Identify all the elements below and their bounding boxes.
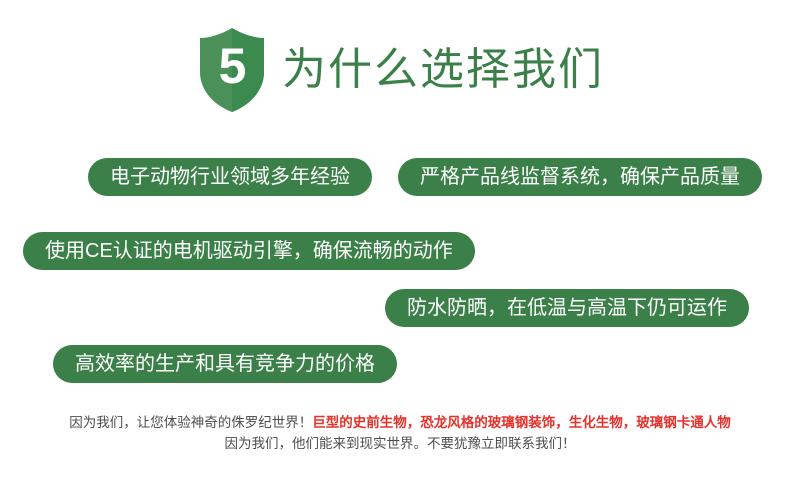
page-title: 为什么选择我们: [282, 48, 604, 92]
footer-text: 因为我们，让您体验神奇的侏罗纪世界！巨型的史前生物，恐龙风格的玻璃钢装饰，生化生…: [0, 412, 800, 454]
feature-pill-2[interactable]: 严格产品线监督系统，确保产品质量: [398, 158, 762, 196]
feature-pill-4[interactable]: 防水防晒，在低温与高温下仍可运作: [385, 289, 749, 327]
shield-badge: 5: [196, 26, 268, 114]
feature-pill-5[interactable]: 高效率的生产和具有竞争力的价格: [53, 345, 397, 383]
footer-line-2: 因为我们，他们能来到现实世界。不要犹豫立即联系我们！: [0, 433, 800, 454]
footer-line-1: 因为我们，让您体验神奇的侏罗纪世界！巨型的史前生物，恐龙风格的玻璃钢装饰，生化生…: [0, 412, 800, 433]
shield-badge-number: 5: [196, 26, 268, 114]
footer-line-1-highlight: 巨型的史前生物，恐龙风格的玻璃钢装饰，生化生物，玻璃钢卡通人物: [312, 415, 731, 430]
footer-line-1-plain: 因为我们，让您体验神奇的侏罗纪世界！: [69, 415, 312, 430]
page-header: 5 为什么选择我们: [0, 22, 800, 118]
feature-pill-3[interactable]: 使用CE认证的电机驱动引擎，确保流畅的动作: [23, 232, 475, 270]
feature-pill-1[interactable]: 电子动物行业领域多年经验: [88, 158, 372, 196]
